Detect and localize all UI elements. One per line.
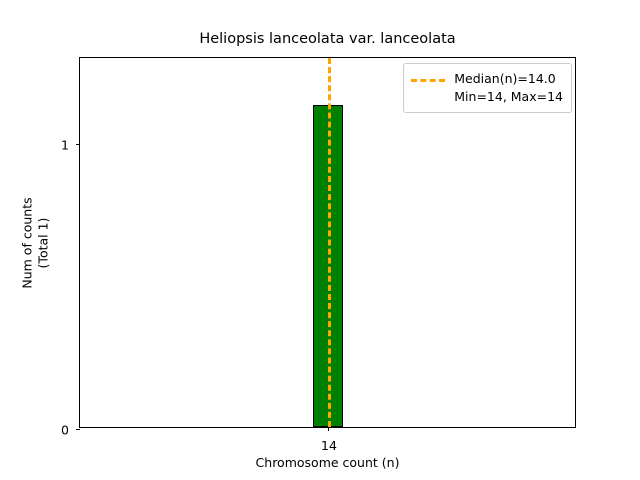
- xtick-label-14: 14: [321, 438, 337, 453]
- median-line: [328, 58, 331, 427]
- legend: Median(n)=14.0 Min=14, Max=14: [403, 63, 572, 113]
- ytick-mark-0: 0: [76, 429, 80, 430]
- dashed-line-icon: [411, 72, 445, 86]
- ytick-label-1: 1: [61, 138, 69, 153]
- page-title: Heliopsis lanceolata var. lanceolata: [79, 31, 576, 47]
- y-axis-label: Num of counts (Total 1): [16, 57, 56, 428]
- y-axis-label-line2: (Total 1): [36, 217, 51, 268]
- ytick-label-0: 0: [61, 423, 69, 438]
- matplotlib-figure: Heliopsis lanceolata var. lanceolata 0 1…: [0, 0, 640, 480]
- legend-label-minmax: Min=14, Max=14: [411, 88, 563, 106]
- legend-entry-median: Median(n)=14.0: [411, 70, 563, 88]
- x-axis-label: Chromosome count (n): [79, 455, 576, 470]
- plot-area: [80, 58, 575, 427]
- ytick-mark-1: 1: [76, 144, 80, 145]
- xtick-mark-14: 14: [328, 427, 329, 431]
- legend-label-median: Median(n)=14.0: [454, 70, 555, 88]
- plot-axes: 0 1 14 Median(n)=14.0 Min=14, Max=14: [79, 57, 576, 428]
- y-axis-label-line1: Num of counts: [20, 197, 35, 288]
